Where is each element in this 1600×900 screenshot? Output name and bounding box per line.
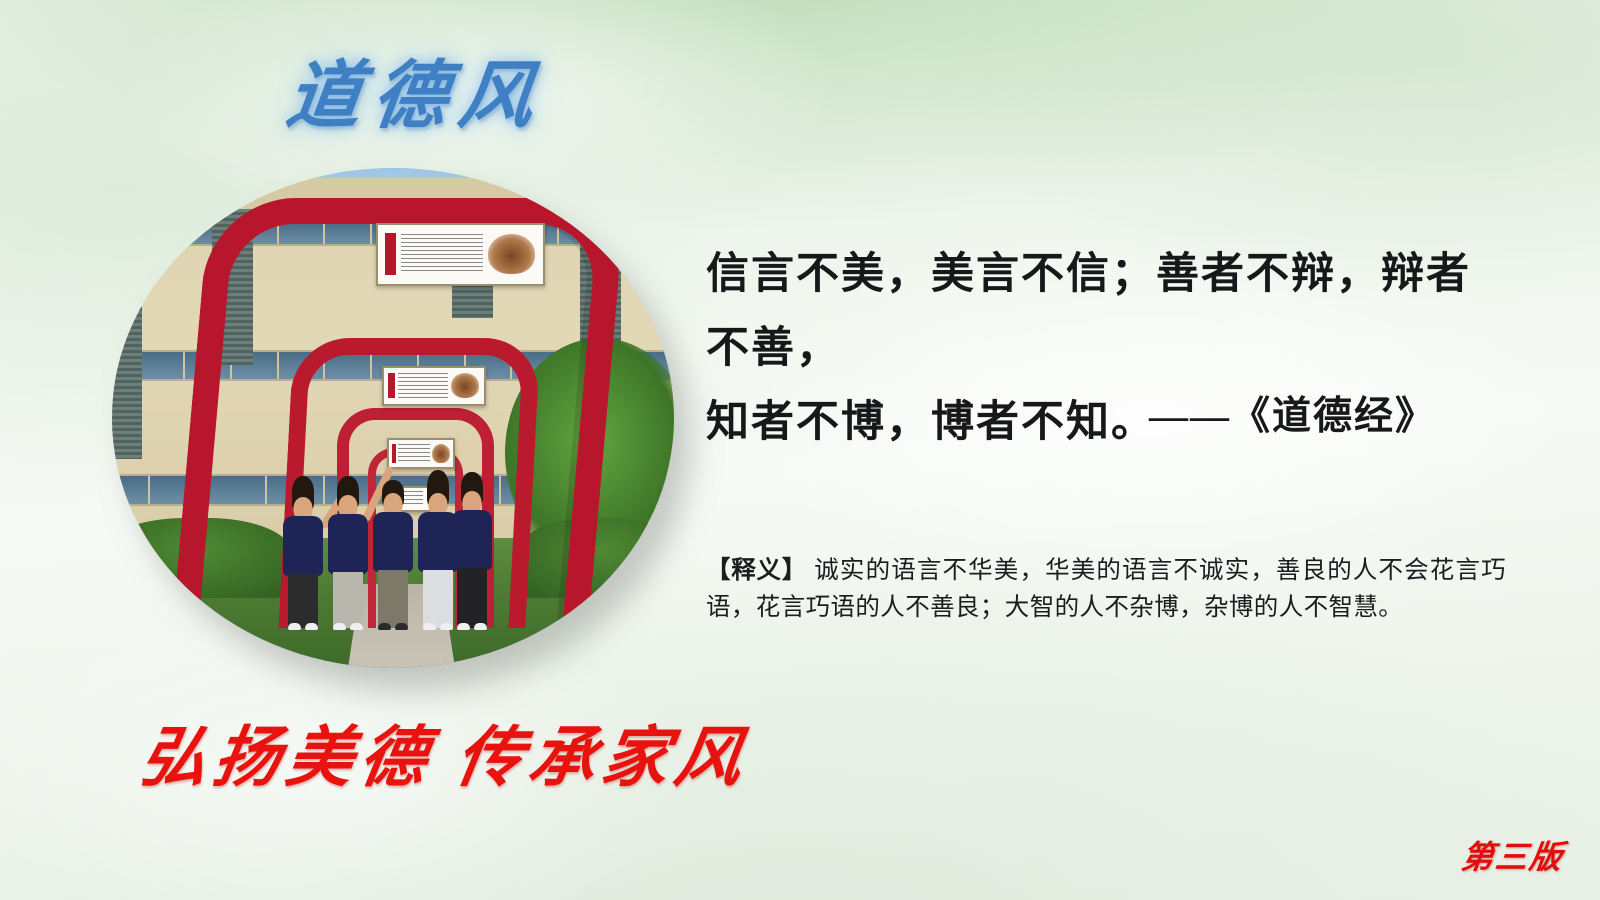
- board-illustration: [488, 234, 534, 274]
- board-title-bar: [392, 444, 396, 463]
- student-uniform: [283, 516, 323, 576]
- circular-photo: [112, 168, 674, 668]
- board-text-lines: [398, 373, 448, 398]
- student-shoe: [457, 623, 470, 630]
- student-uniform: [328, 514, 368, 574]
- display-board: [376, 223, 545, 286]
- display-board: [387, 438, 454, 469]
- student-legs: [288, 574, 318, 628]
- board-text-lines: [398, 444, 430, 462]
- page-title: 道德风: [281, 36, 552, 143]
- student-shoe: [305, 623, 318, 630]
- student-shoe: [474, 623, 487, 630]
- student-uniform: [452, 510, 492, 570]
- display-board: [382, 366, 486, 406]
- quote-line-1: 信言不美，美言不信；善者不辩，辩者不善，: [706, 238, 1496, 386]
- board-title-bar: [385, 233, 397, 275]
- student-shoe: [378, 623, 391, 630]
- student-uniform: [373, 512, 413, 572]
- poster-canvas: 道德风: [0, 0, 1600, 900]
- board-text-lines: [401, 234, 483, 274]
- student-shoe: [333, 623, 346, 630]
- student-legs: [457, 568, 487, 628]
- student-shoe: [440, 623, 453, 630]
- student-shoe: [350, 623, 363, 630]
- board-title-bar: [388, 373, 395, 399]
- student-shoe: [423, 623, 436, 630]
- page-edition-mark: 第三版: [1459, 832, 1567, 878]
- board-illustration: [432, 444, 450, 462]
- explanation-text: 诚实的语言不华美，华美的语言不诚实，善良的人不会花言巧语，花言巧语的人不善良；大…: [706, 557, 1506, 621]
- student-shoe: [288, 623, 301, 630]
- student-legs: [333, 572, 363, 628]
- photo-image: [112, 168, 674, 668]
- explanation-paragraph: 【释义】 诚实的语言不华美，华美的语言不诚实，善良的人不会花言巧语，花言巧语的人…: [706, 552, 1506, 626]
- board-illustration: [451, 373, 479, 398]
- building-louver: [112, 233, 142, 459]
- quote-attribution: ——《道德经》: [706, 385, 1496, 441]
- slogan-text: 弘扬美德 传承家风: [134, 704, 757, 800]
- explanation-tag: 【释义】: [706, 557, 807, 584]
- student-legs: [378, 570, 408, 628]
- student-legs: [423, 570, 453, 628]
- board-text-lines: [401, 491, 423, 506]
- student-shoe: [395, 623, 408, 630]
